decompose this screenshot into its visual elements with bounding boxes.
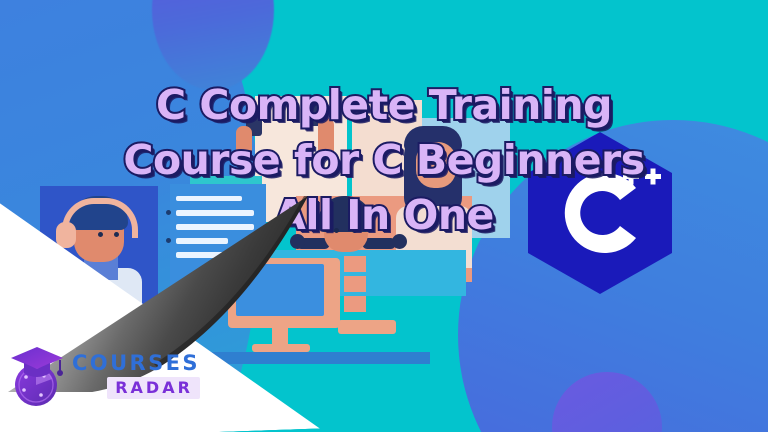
illustration-monitor-base: [252, 344, 310, 352]
headline-line-2: Course for C Beginners: [0, 133, 768, 188]
illustration-keyboard: [338, 320, 396, 334]
illustration-book: [344, 256, 366, 272]
graduation-cap-radar-icon: [8, 343, 66, 409]
headline-line-1: C Complete Training: [0, 78, 768, 133]
illustration-book: [344, 296, 366, 312]
graduation-cap-tassel: [57, 370, 63, 376]
brand-word-courses: COURSES: [72, 353, 200, 374]
illustration-book: [344, 276, 366, 292]
brand-word-radar: RADAR: [107, 377, 200, 399]
page-title: C Complete Training Course for C Beginne…: [0, 78, 768, 243]
brand-wordmark: COURSES RADAR: [72, 353, 200, 399]
illustration-desk: [206, 352, 430, 364]
headline-line-3: All In One: [0, 188, 768, 243]
course-thumbnail-banner: C Complete Training Course for C Beginne…: [0, 0, 768, 432]
brand-logo[interactable]: COURSES RADAR: [8, 340, 198, 412]
graduation-cap-board: [11, 347, 63, 369]
